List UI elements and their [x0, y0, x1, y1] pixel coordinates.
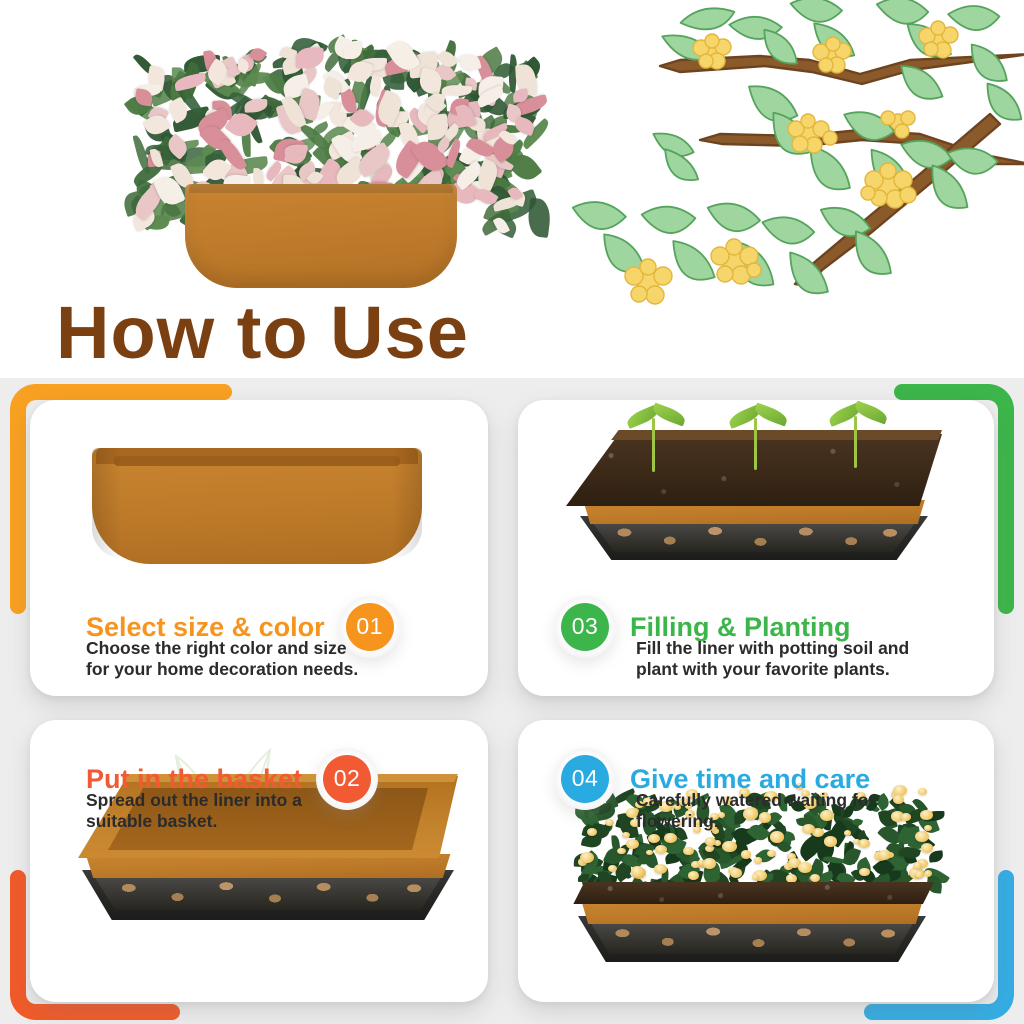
step-description-03: Fill the liner with potting soil and pla… — [636, 638, 909, 680]
hero-banner: How to Use — [0, 0, 1024, 378]
step-number-badge-02: 02 — [323, 755, 371, 803]
step-card-03[interactable]: 03 Filling & Planting Fill the liner wit… — [518, 400, 994, 696]
step-card-04[interactable]: 04 Give time and care Carefully watered … — [518, 720, 994, 1002]
hero-planter-liner — [185, 184, 457, 288]
step-badge-wrap-02: 02 — [316, 748, 378, 810]
flowering-planter-photo — [60, 8, 560, 298]
steps-grid: Select size & color 01 Choose the right … — [0, 378, 1024, 1024]
osmanthus-branch-illustration — [560, 0, 1024, 314]
step-description-04: Carefully watered waiting for flowering. — [636, 790, 875, 832]
step-number-badge-03: 03 — [561, 603, 609, 651]
step-description-02: Spread out the liner into a suitable bas… — [86, 790, 302, 832]
step-number-badge-04: 04 — [561, 755, 609, 803]
step-badge-wrap-03: 03 — [554, 596, 616, 658]
page-title: How to Use — [56, 296, 469, 370]
step-card-01[interactable]: Select size & color 01 Choose the right … — [30, 400, 488, 696]
step-card-02[interactable]: Put in the basket 02 Spread out the line… — [30, 720, 488, 1002]
step-badge-wrap-04: 04 — [554, 748, 616, 810]
step-description-01: Choose the right color and size for your… — [86, 638, 358, 680]
